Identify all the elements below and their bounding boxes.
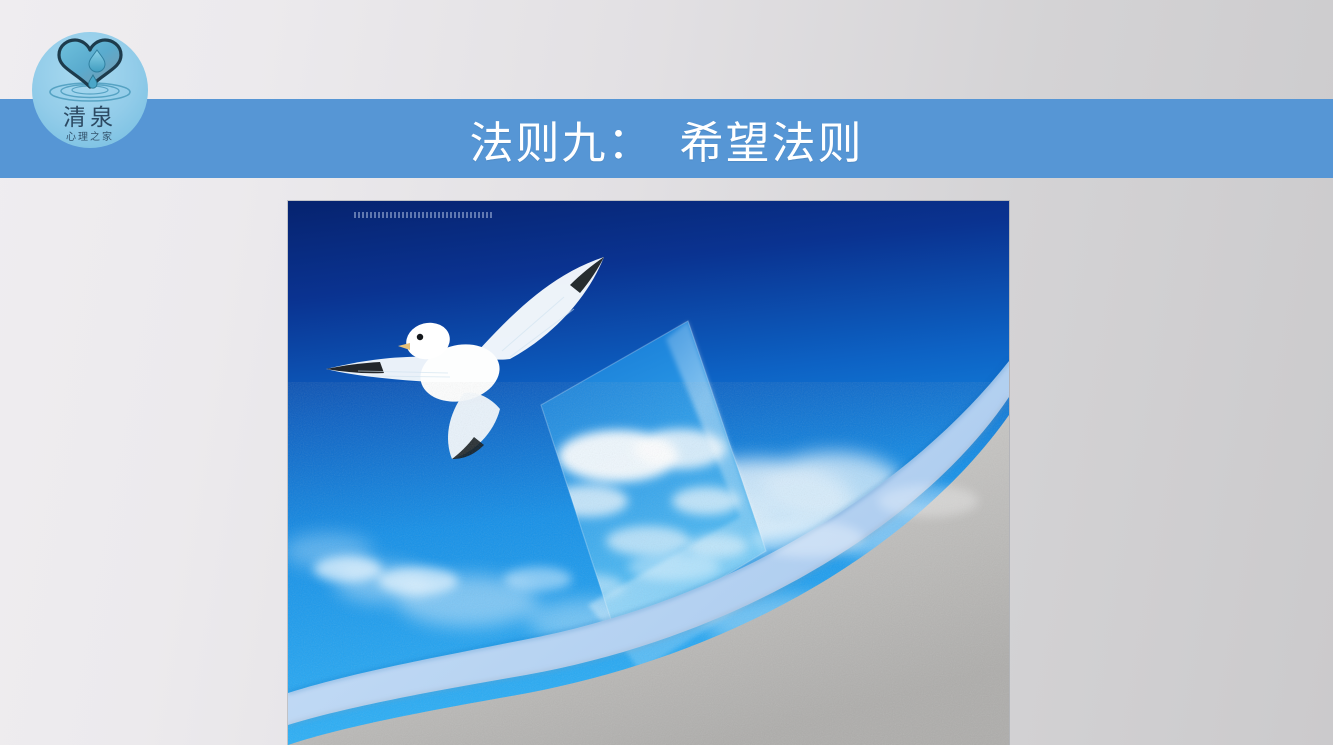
logo-brand-main: 清泉 — [63, 105, 117, 131]
slide-title-band: 法则九： 希望法则 — [0, 99, 1333, 178]
photo-graphic — [288, 201, 1009, 745]
brand-logo[interactable]: 清泉 心理之家 — [31, 28, 149, 153]
logo-graphic: 清泉 心理之家 — [31, 28, 149, 153]
page-title: 法则九： 希望法则 — [0, 99, 1333, 178]
seagull-sky-photo[interactable] — [288, 201, 1009, 745]
logo-brand-sub: 心理之家 — [66, 130, 114, 143]
